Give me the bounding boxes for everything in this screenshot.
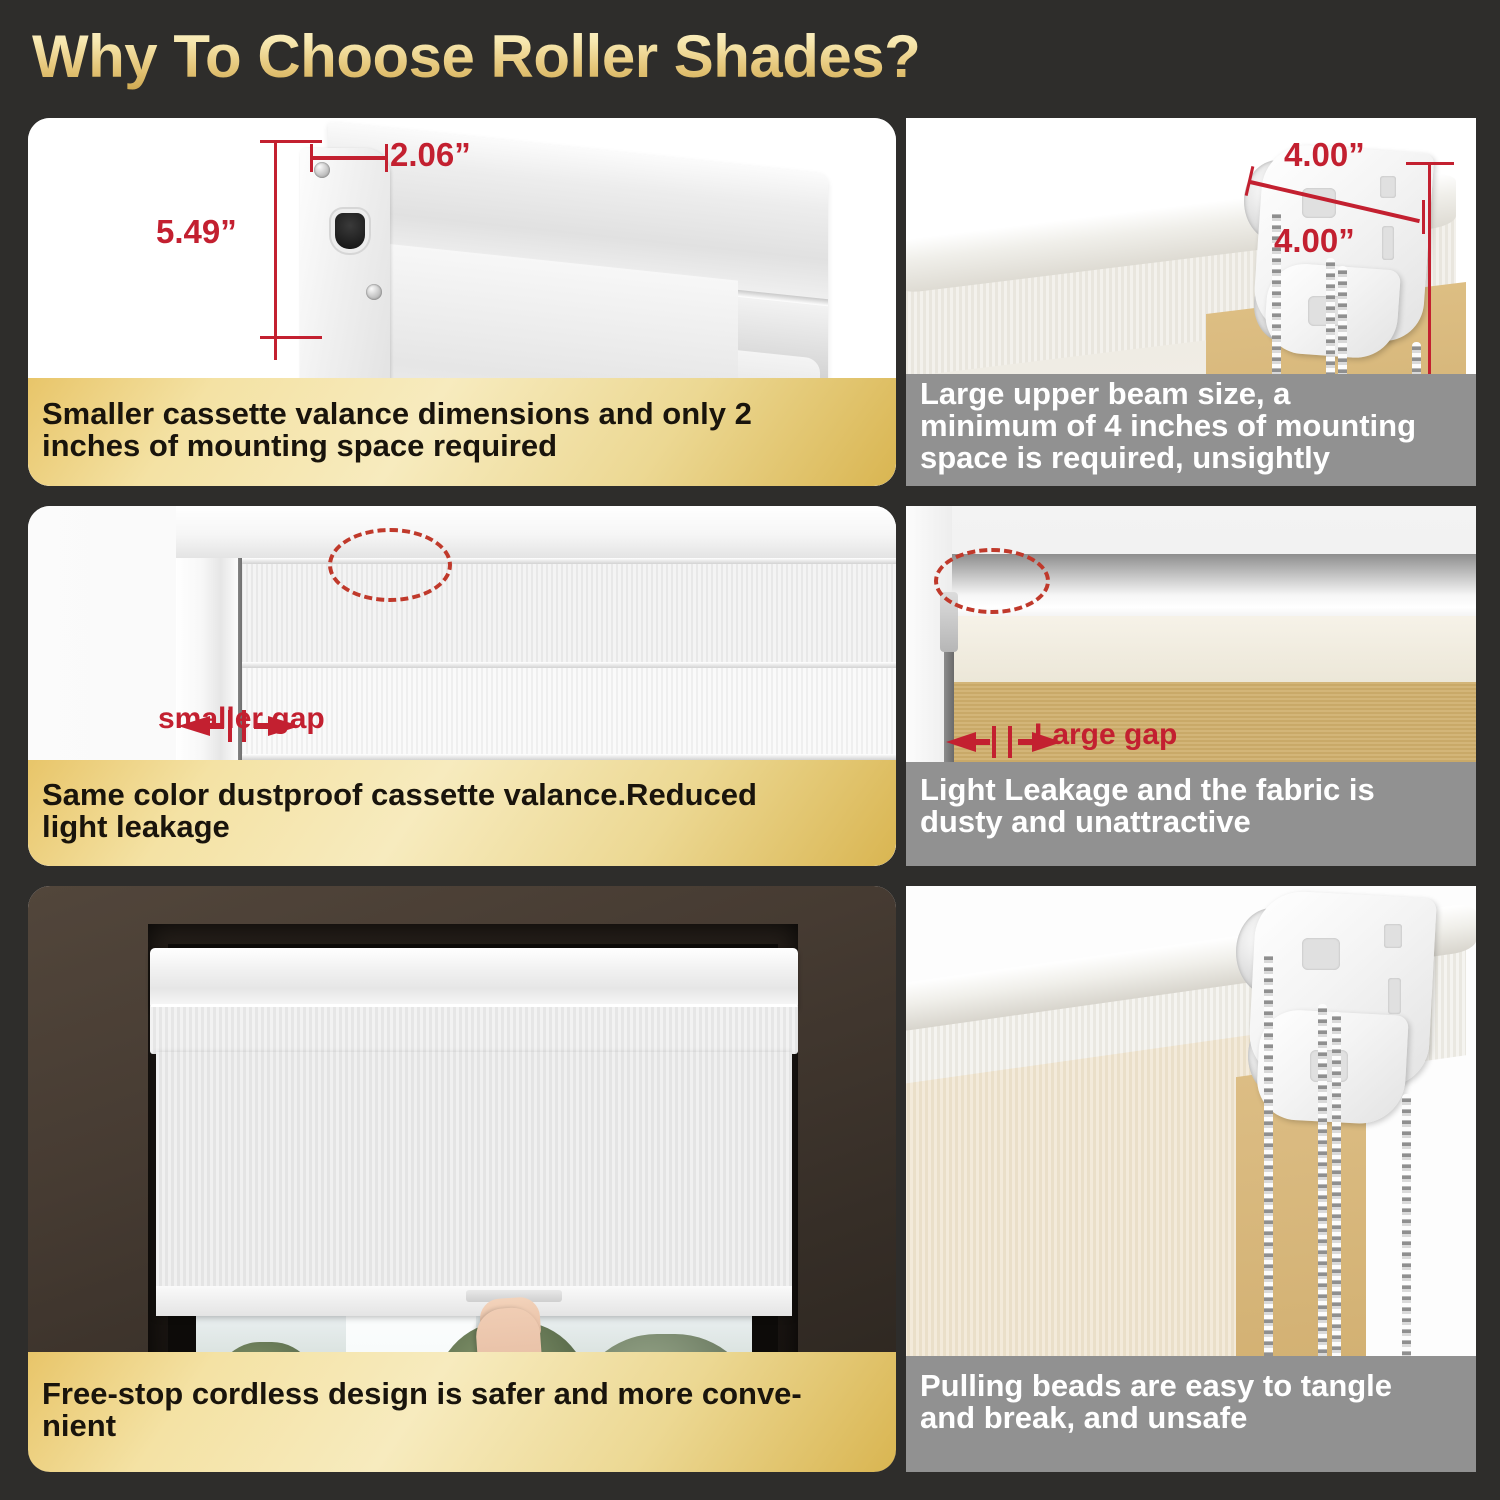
white-fabric-band bbox=[946, 616, 1476, 682]
panel-2-caption: Large upper beam size, a minimum of 4 in… bbox=[906, 374, 1476, 486]
gap-marker-right bbox=[242, 710, 246, 742]
panel-1-caption-text: Smaller cassette valance dimensions and … bbox=[42, 398, 882, 462]
gap-marker-left bbox=[992, 726, 996, 758]
panel-2-caption-text: Large upper beam size, a minimum of 4 in… bbox=[920, 378, 1462, 475]
bracket-emblem bbox=[1310, 1050, 1348, 1082]
bead-chain bbox=[1318, 1004, 1327, 1412]
bead-chain bbox=[1264, 952, 1273, 1412]
panel-pulling-beads: Pulling beads are easy to tangle and bre… bbox=[906, 886, 1476, 1472]
page-title: Why To Choose Roller Shades? bbox=[32, 22, 920, 91]
bracket-emblem bbox=[1302, 938, 1340, 970]
height-dimension-tick-bottom bbox=[260, 336, 322, 339]
width-dimension-tick-left bbox=[310, 144, 313, 172]
panel-5-caption: Free-stop cordless design is safer and m… bbox=[28, 1352, 896, 1472]
gap-marker-right bbox=[1008, 726, 1012, 758]
bracket-slot bbox=[1384, 924, 1402, 948]
height-dimension-label: 4.00” bbox=[1274, 222, 1355, 260]
gap-marker-left bbox=[228, 710, 232, 742]
gap-arrow-right-icon bbox=[1016, 728, 1062, 756]
panel-4-caption-text: Light Leakage and the fabric is dusty an… bbox=[920, 774, 1462, 838]
width-dimension-label: 4.00” bbox=[1284, 136, 1365, 174]
panel-cordless-design: Free-stop cordless design is safer and m… bbox=[28, 886, 896, 1472]
height-dimension-tick-top bbox=[260, 140, 322, 143]
width-dimension-tick-right bbox=[1422, 200, 1425, 234]
bead-chain bbox=[1332, 1012, 1341, 1412]
bracket-slot bbox=[1382, 226, 1394, 260]
width-dimension-label: 2.06” bbox=[390, 136, 471, 174]
panel-large-beam: 4.00” 4.00” Large upper beam size, a min… bbox=[906, 118, 1476, 486]
shade-fabric bbox=[156, 1052, 792, 1314]
screw-icon bbox=[314, 162, 330, 178]
bracket-slot bbox=[1388, 978, 1401, 1014]
screw-icon bbox=[366, 284, 382, 300]
gap-arrow-right-icon bbox=[252, 712, 300, 740]
panel-5-caption-text: Free-stop cordless design is safer and m… bbox=[42, 1378, 882, 1442]
gap-arrow-left-icon bbox=[946, 728, 992, 756]
valance-end-cap bbox=[300, 148, 390, 410]
highlight-ellipse bbox=[934, 548, 1050, 614]
panel-6-caption-text: Pulling beads are easy to tangle and bre… bbox=[920, 1370, 1462, 1434]
panel-smaller-gap: smaller gap Same color dustproof cassett… bbox=[28, 506, 896, 866]
gap-arrow-left-icon bbox=[178, 712, 226, 740]
valance-slot-icon bbox=[335, 213, 365, 249]
highlight-ellipse bbox=[328, 528, 452, 602]
panel-3-caption-text: Same color dustproof cassette valance.Re… bbox=[42, 779, 882, 843]
cassette-valance bbox=[150, 948, 798, 1010]
panel-4-caption: Light Leakage and the fabric is dusty an… bbox=[906, 762, 1476, 866]
height-dimension-tick-top bbox=[1406, 162, 1454, 165]
window-frame-top bbox=[176, 506, 896, 558]
height-dimension-line bbox=[274, 140, 277, 360]
panel-6-caption: Pulling beads are easy to tangle and bre… bbox=[906, 1356, 1476, 1472]
width-dimension-line bbox=[312, 156, 388, 160]
panel-large-gap: Large gap Light Leakage and the fabric i… bbox=[906, 506, 1476, 866]
shade-band bbox=[238, 668, 896, 760]
cassette-lower-band bbox=[150, 1004, 798, 1054]
panel-smaller-cassette: 2.06” 5.49” Smaller cassette valance dim… bbox=[28, 118, 896, 486]
height-dimension-label: 5.49” bbox=[156, 213, 237, 251]
panel-3-caption: Same color dustproof cassette valance.Re… bbox=[28, 760, 896, 866]
panel-1-caption: Smaller cassette valance dimensions and … bbox=[28, 378, 896, 486]
bracket-emblem bbox=[1308, 296, 1342, 326]
width-dimension-tick-right bbox=[385, 144, 388, 172]
bracket-slot bbox=[1380, 176, 1396, 198]
